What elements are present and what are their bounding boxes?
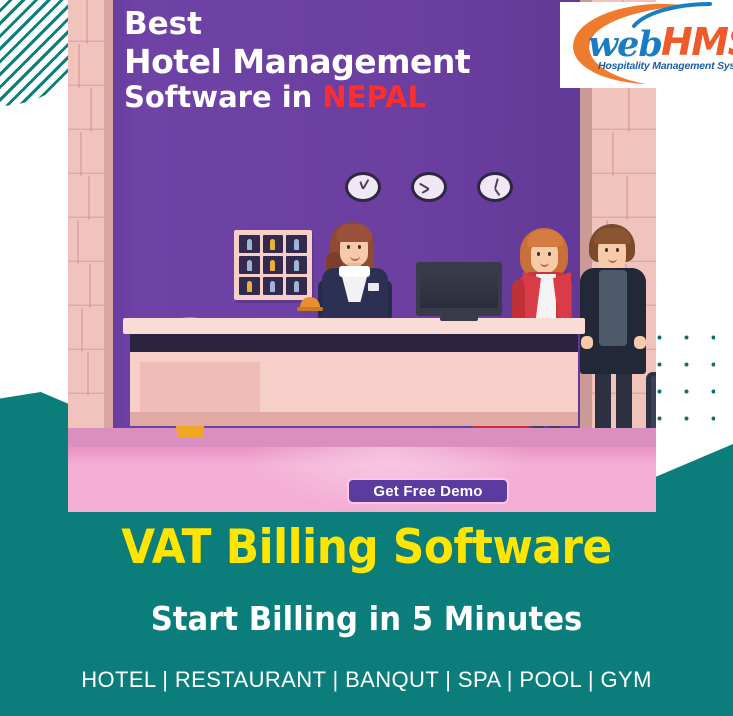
man-guest-eye xyxy=(616,248,619,252)
headline-line-2: Hotel Management xyxy=(124,43,594,81)
brick-column-left-edge xyxy=(104,0,113,438)
headline-line-3: Software in NEPAL xyxy=(124,80,594,114)
wall-clock-3 xyxy=(477,172,513,202)
monitor-display xyxy=(420,266,498,308)
woman-guest-eye xyxy=(537,252,540,256)
receptionist-collar xyxy=(339,266,370,277)
key-slot xyxy=(239,256,260,274)
poster-canvas: Best Hotel Management Software in NEPAL … xyxy=(0,0,733,716)
logo-web-text: web xyxy=(588,24,662,65)
banner-title: VAT Billing Software xyxy=(26,523,708,572)
key-slot xyxy=(263,256,284,274)
brick-column-left xyxy=(68,0,104,438)
key-slot xyxy=(286,256,307,274)
banner-subtitle: Start Billing in 5 Minutes xyxy=(26,602,708,637)
man-guest-eye xyxy=(605,248,608,252)
receptionist-eye xyxy=(347,245,350,249)
reception-desk-shadow xyxy=(130,412,578,426)
key-slot xyxy=(239,235,260,253)
logo-hms-text: HMS xyxy=(661,20,733,64)
wall-clock-1 xyxy=(345,172,381,202)
banner-services-list: HOTEL | RESTAURANT | BANQUT | SPA | POOL… xyxy=(0,667,733,693)
key-slot xyxy=(239,277,260,295)
key-slot xyxy=(286,235,307,253)
logo-tagline: Hospitality Management System xyxy=(598,60,733,72)
key-slot xyxy=(263,277,284,295)
woman-guest-eye xyxy=(548,252,551,256)
wall-clock-2 xyxy=(411,172,447,202)
reception-desk-top xyxy=(123,318,585,334)
reception-desk-panel xyxy=(140,362,260,418)
reception-desk-front-trim xyxy=(130,334,578,352)
receptionist-eye xyxy=(358,245,361,249)
headline-line-1: Best xyxy=(124,6,594,43)
illustration-headline: Best Hotel Management Software in NEPAL xyxy=(124,6,594,114)
man-guest-fringe xyxy=(594,228,631,244)
dark-suitcase-strip xyxy=(651,376,656,434)
man-guest-hand xyxy=(634,336,646,349)
headline-nepal-highlight: NEPAL xyxy=(322,80,426,114)
get-free-demo-button[interactable]: Get Free Demo xyxy=(347,478,509,504)
man-guest-hand xyxy=(581,336,593,349)
receptionist-name-badge xyxy=(368,283,379,291)
service-bell-base xyxy=(297,307,323,311)
headline-line-3-prefix: Software in xyxy=(124,80,322,114)
woman-guest-fringe xyxy=(527,230,563,247)
key-slot xyxy=(263,235,284,253)
man-guest-tshirt-front xyxy=(599,270,627,346)
webhms-logo[interactable]: web HMS Hospitality Management System xyxy=(560,2,732,88)
key-slot-grid xyxy=(239,235,307,295)
receptionist-fringe xyxy=(336,224,372,242)
key-slot xyxy=(286,277,307,295)
